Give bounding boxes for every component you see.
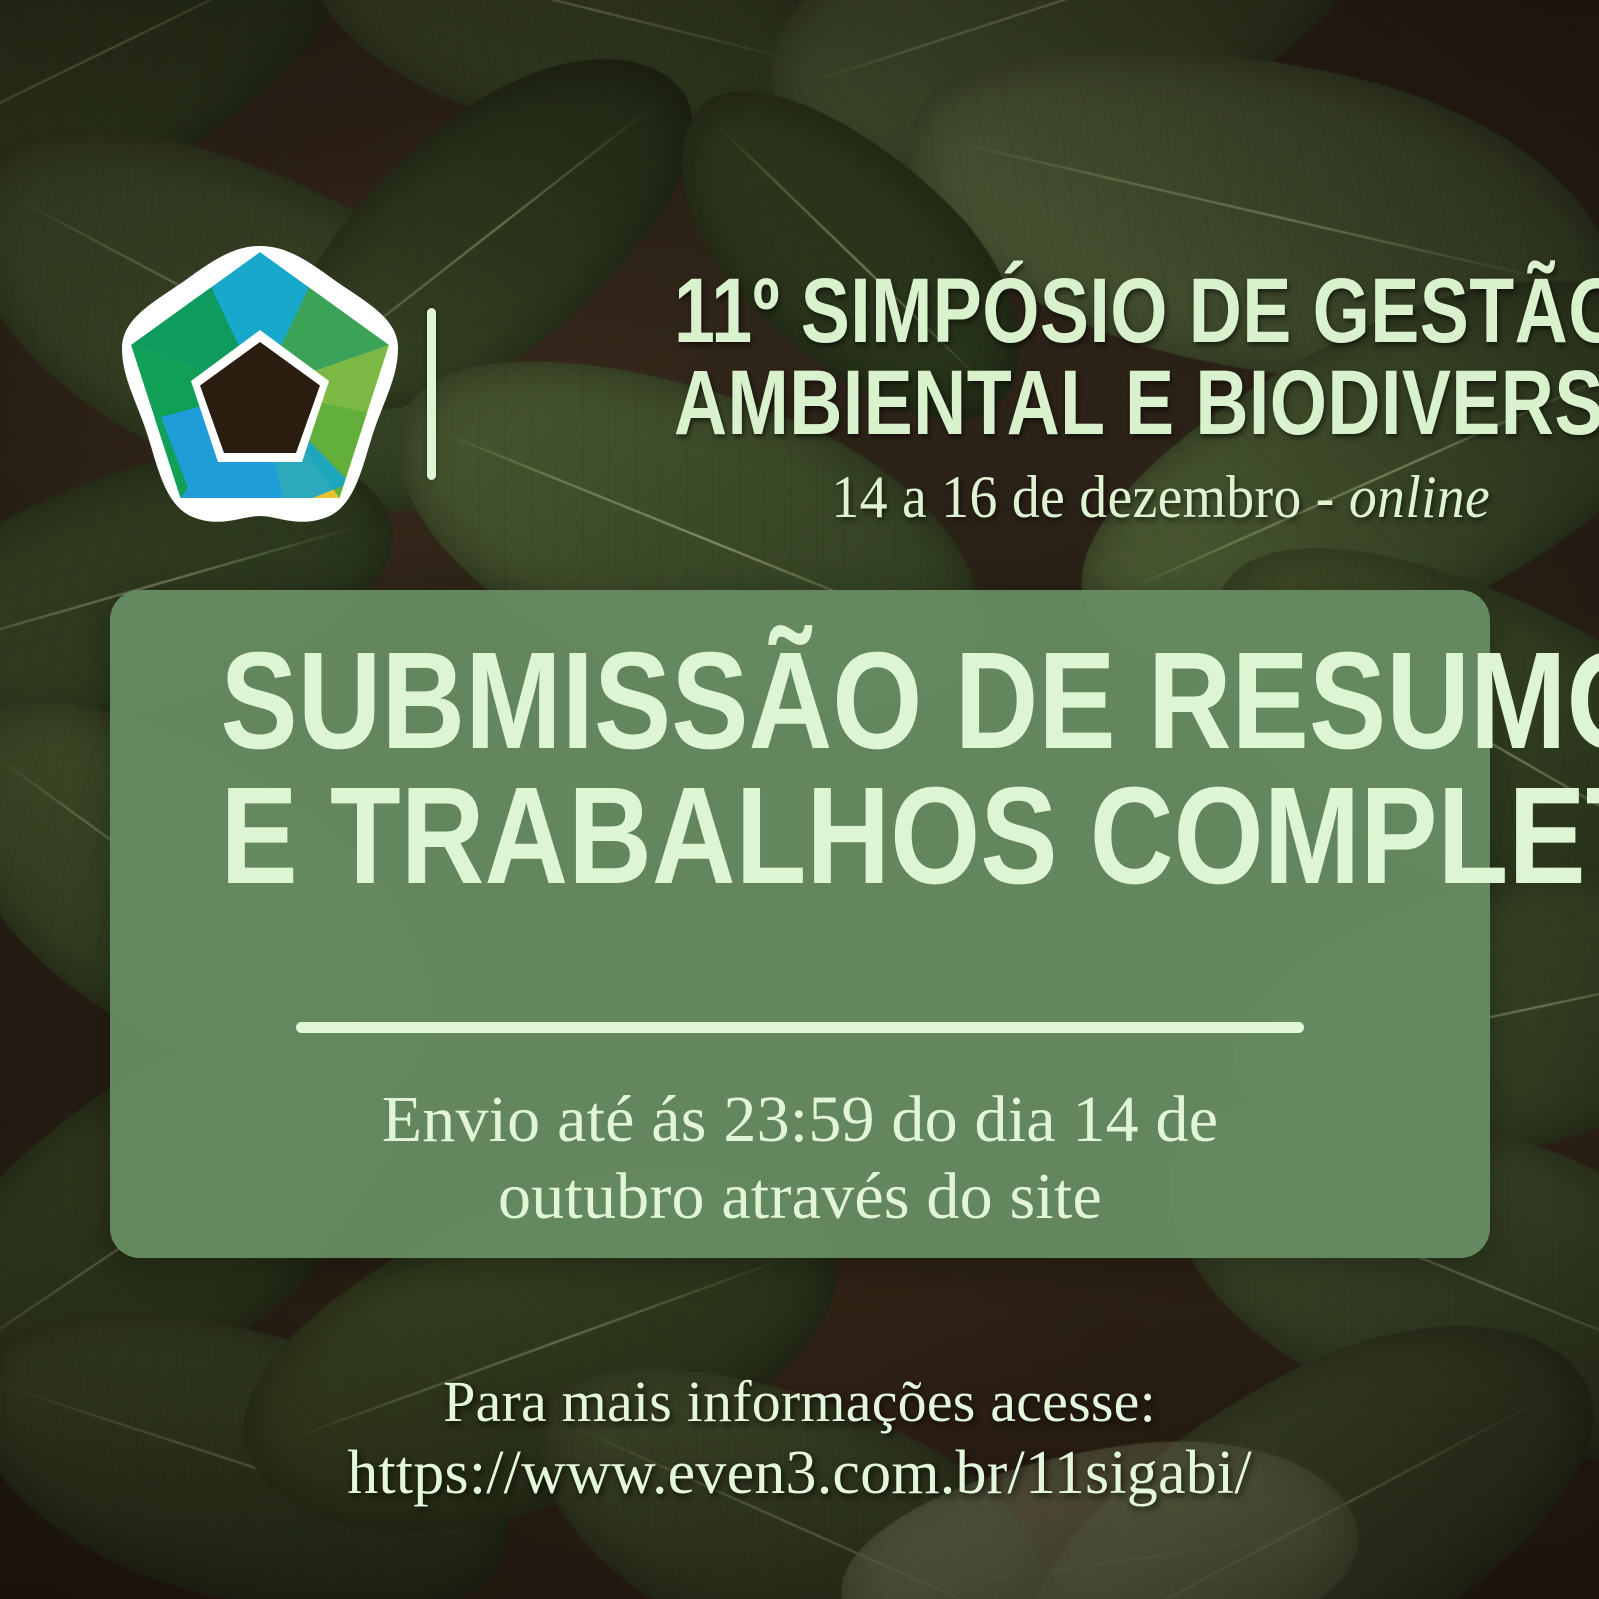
submission-deadline: Envio até ás 23:59 do dia 14 de outubro … <box>110 1082 1490 1235</box>
event-title-line-1: 11º SIMPÓSIO DE GESTÃO <box>674 268 1490 354</box>
event-dates: 14 a 16 de dezembro - online <box>541 463 1490 532</box>
deadline-line-2: outubro através do site <box>110 1159 1490 1236</box>
event-format-online: online <box>1349 464 1490 530</box>
event-dates-text: 14 a 16 de dezembro - <box>831 464 1348 530</box>
deadline-line-1: Envio até ás 23:59 do dia 14 de <box>110 1082 1490 1159</box>
announcement-headline: SUBMISSÃO DE RESUMOS E TRABALHOS COMPLET… <box>110 638 1490 900</box>
poster-footer: Para mais informações acesse: https://ww… <box>0 1370 1599 1508</box>
event-url[interactable]: https://www.even3.com.br/11sigabi/ <box>0 1439 1599 1508</box>
headline-line-1: SUBMISSÃO DE RESUMOS <box>220 638 1379 765</box>
headline-line-2: E TRABALHOS COMPLETOS <box>220 773 1379 900</box>
event-title-block: 11º SIMPÓSIO DE GESTÃO AMBIENTAL E BIODI… <box>470 268 1490 532</box>
header-vertical-divider <box>427 308 436 480</box>
announcement-card: SUBMISSÃO DE RESUMOS E TRABALHOS COMPLET… <box>110 590 1490 1258</box>
poster-root: 11º SIMPÓSIO DE GESTÃO AMBIENTAL E BIODI… <box>0 0 1599 1599</box>
more-info-label: Para mais informações acesse: <box>0 1370 1599 1435</box>
poster-header: 11º SIMPÓSIO DE GESTÃO AMBIENTAL E BIODI… <box>0 110 1599 450</box>
card-horizontal-divider <box>296 1022 1304 1033</box>
sigabi-pentagon-pinwheel-logo <box>110 240 410 540</box>
event-title-line-2: AMBIENTAL E BIODIVERSIDADE <box>674 360 1490 446</box>
